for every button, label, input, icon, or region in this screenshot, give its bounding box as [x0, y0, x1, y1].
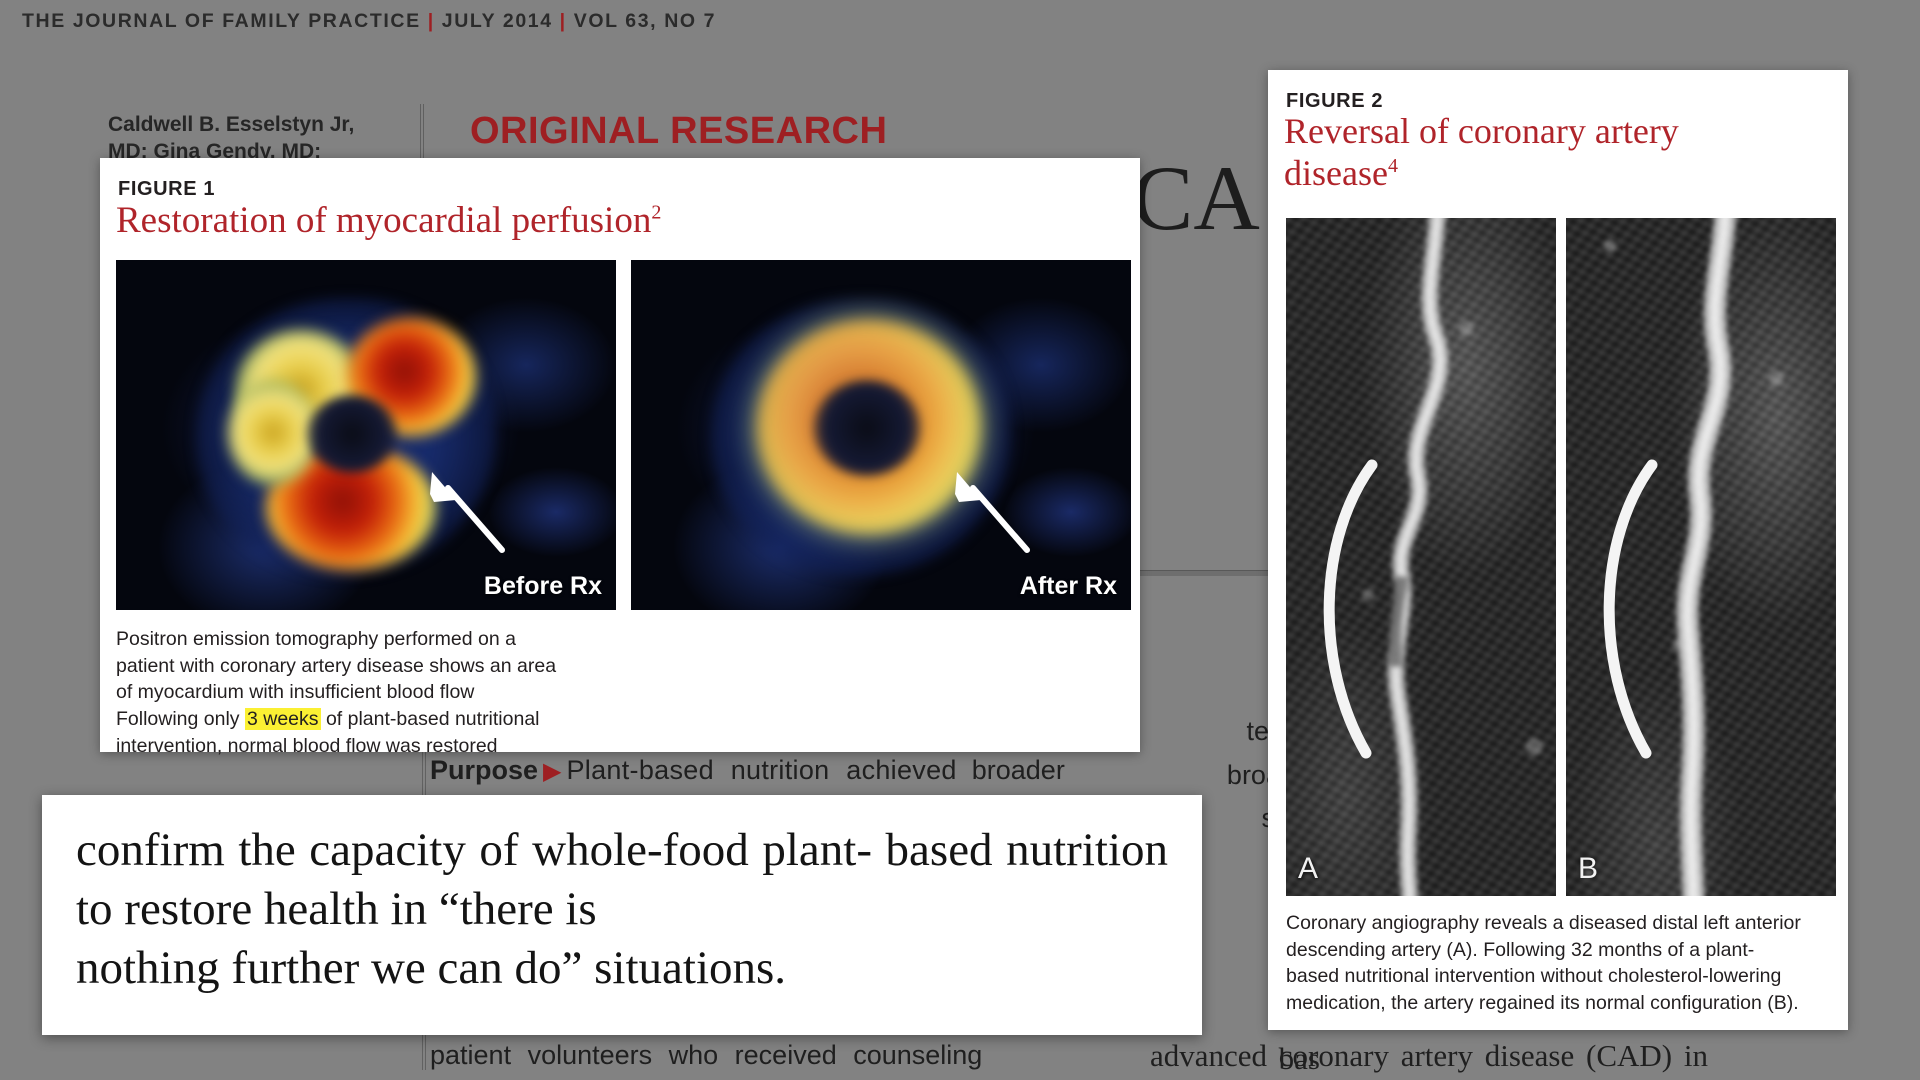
figure-1-kicker: FIGURE 1: [118, 178, 215, 201]
figure-2-card[interactable]: FIGURE 2 Reversal of coronary artery dis…: [1268, 70, 1848, 1030]
section-label-original-research: ORIGINAL RESEARCH: [470, 110, 887, 153]
figure-1-caption-highlight: 3 weeks: [245, 708, 321, 730]
running-head-date: JULY 2014: [442, 10, 553, 32]
running-head-volume: VOL 63, NO 7: [574, 10, 716, 32]
article-headline-fragment: CA: [1132, 155, 1260, 242]
purpose-tail-text: broader: [972, 755, 1065, 785]
figure-1-caption-line-1: Positron emission tomography performed o…: [116, 626, 636, 653]
pet-after-label: After Rx: [1020, 572, 1117, 601]
running-head-separator-1: |: [421, 10, 442, 32]
pet-after-cavity: [813, 380, 921, 476]
figure-2-caption-line-2: descending artery (A). Following 32 mont…: [1286, 937, 1831, 964]
figure-1-title-text: Restoration of myocardial perfusion: [116, 200, 651, 241]
figure-2-caption-line-1: Coronary angiography reveals a diseased …: [1286, 910, 1831, 937]
angiogram-diseased[interactable]: A: [1286, 218, 1556, 896]
running-head-separator-2: |: [553, 10, 574, 32]
figure-2-title: Reversal of coronary artery disease4: [1284, 110, 1704, 195]
figure-2-caption-line-4: medication, the artery regained its norm…: [1286, 990, 1831, 1017]
running-head: THE JOURNAL OF FAMILY PRACTICE|JULY 2014…: [22, 10, 716, 33]
pet-before-arrow-icon: [404, 458, 514, 568]
pet-scan-after[interactable]: After Rx: [631, 260, 1131, 610]
bottom-right-text: advanced coronary artery disease (CAD) i…: [1150, 1038, 1708, 1074]
figure-1-caption-line-4: Following only 3 weeks of plant-based nu…: [116, 706, 636, 733]
angiogram-b-label: B: [1578, 852, 1598, 886]
angiogram-a-label: A: [1298, 852, 1318, 886]
pet-after-arrow-icon: [929, 458, 1039, 568]
figure-1-caption-line-4-post: of plant-based nutritional: [321, 708, 540, 730]
figure-1-caption-line-4-pre: Following only: [116, 708, 245, 730]
screenshot-root: THE JOURNAL OF FAMILY PRACTICE|JULY 2014…: [0, 0, 1920, 1080]
figure-2-caption: Coronary angiography reveals a diseased …: [1286, 910, 1831, 1016]
figure-1-caption-line-5: intervention, normal blood flow was rest…: [116, 733, 636, 760]
pet-before-label: Before Rx: [484, 572, 602, 601]
running-head-journal: THE JOURNAL OF FAMILY PRACTICE: [22, 10, 421, 32]
column-divider-bar: [1130, 570, 1280, 576]
figure-1-title-superscript: 2: [651, 202, 661, 224]
figure-1-card[interactable]: FIGURE 1 Restoration of myocardial perfu…: [100, 158, 1140, 752]
pet-before-defect-region: [306, 395, 398, 473]
pull-quote-line-1: confirm the capacity of whole-food plant…: [76, 824, 872, 876]
figure-1-image-row: Before Rx After Rx: [116, 260, 1131, 610]
figure-1-caption-line-2: patient with coronary artery disease sho…: [116, 653, 636, 680]
figure-2-title-text: Reversal of coronary artery disease: [1284, 111, 1679, 193]
pet-scan-before[interactable]: Before Rx: [116, 260, 616, 610]
pull-quote-card[interactable]: confirm the capacity of whole-food plant…: [42, 795, 1202, 1035]
angiogram-b-marker-arc-icon: [1584, 453, 1694, 783]
pull-quote-text: confirm the capacity of whole-food plant…: [76, 821, 1168, 999]
triangle-marker-icon: ▶: [538, 758, 566, 785]
figure-2-caption-line-3: based nutritional intervention without c…: [1286, 963, 1831, 990]
pet-before-perfusion-blob-4: [228, 380, 318, 485]
figure-1-title: Restoration of myocardial perfusion2: [116, 200, 661, 241]
figure-1-caption-line-3: of myocardium with insufficient blood fl…: [116, 679, 636, 706]
bottom-left-text: patient volunteers who received counseli…: [430, 1040, 982, 1071]
angiogram-restored[interactable]: B: [1566, 218, 1836, 896]
figure-2-title-superscript: 4: [1388, 155, 1398, 177]
abstract-purpose-line: Purpose▶Plant-based nutrition achieved b…: [430, 755, 1065, 786]
pull-quote-line-3: nothing further we can do” situations.: [76, 939, 1168, 998]
angiogram-a-marker-arc-icon: [1304, 453, 1414, 783]
figure-1-caption: Positron emission tomography performed o…: [116, 626, 636, 760]
figure-2-image-row: A B: [1286, 218, 1836, 896]
